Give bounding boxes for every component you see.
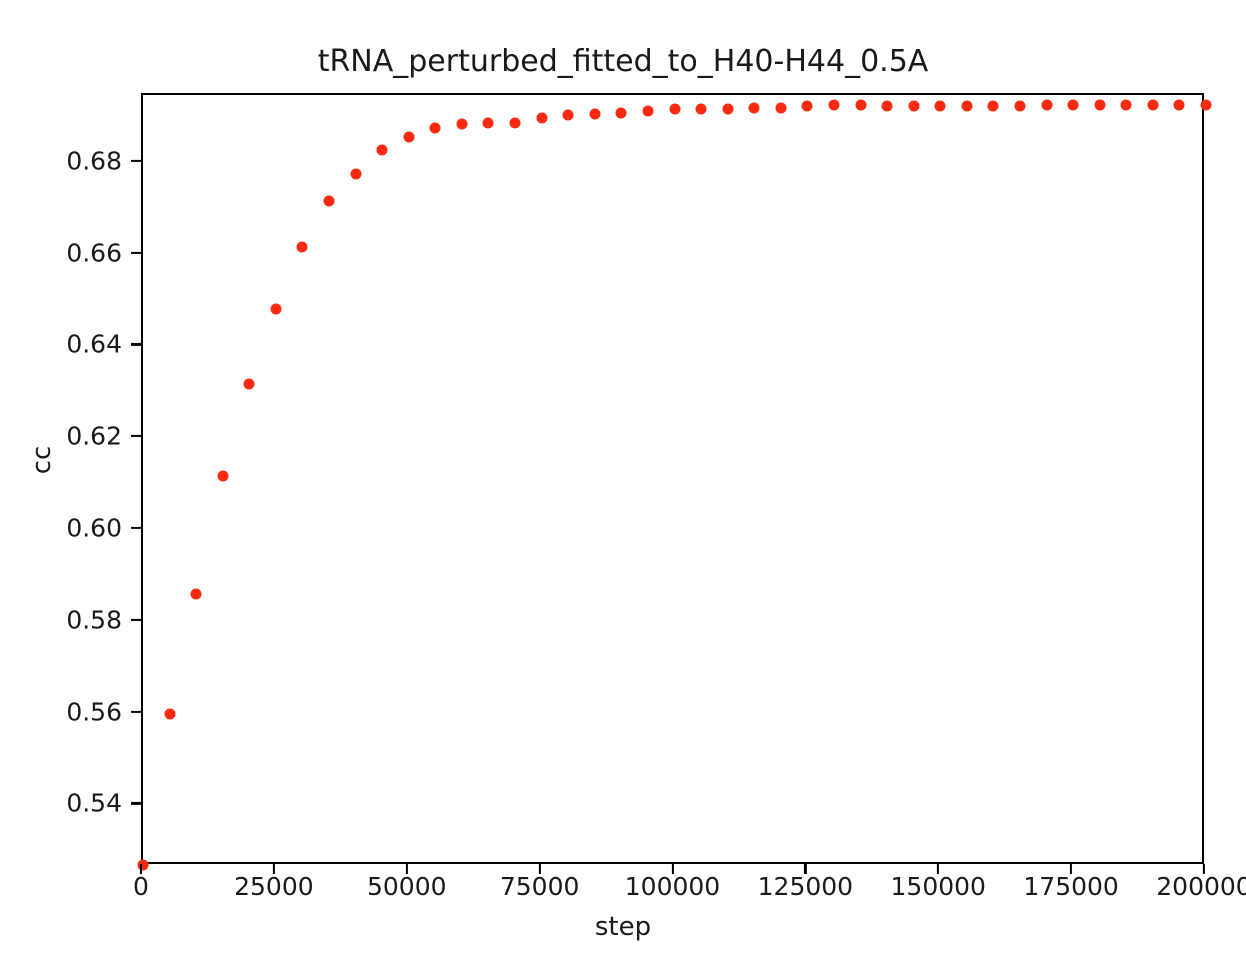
y-tick-label: 0.64 xyxy=(2,330,122,359)
data-point xyxy=(430,123,441,134)
data-point xyxy=(828,100,839,111)
data-point xyxy=(536,112,547,123)
figure-canvas: tRNA_perturbed_fitted_to_H40-H44_0.5A st… xyxy=(0,0,1246,965)
data-point xyxy=(696,103,707,114)
y-tick-label: 0.62 xyxy=(2,422,122,451)
data-point xyxy=(642,105,653,116)
y-tick-label: 0.68 xyxy=(2,146,122,175)
y-tick-mark xyxy=(131,343,141,345)
y-tick-mark xyxy=(131,711,141,713)
data-point xyxy=(217,470,228,481)
y-tick-label: 0.66 xyxy=(2,238,122,267)
data-point xyxy=(403,132,414,143)
data-point xyxy=(802,101,813,112)
data-point xyxy=(1147,100,1158,111)
y-axis-label: cc xyxy=(27,400,57,520)
data-point xyxy=(510,117,521,128)
data-point xyxy=(1068,100,1079,111)
data-point xyxy=(1174,100,1185,111)
x-tick-mark xyxy=(539,864,541,874)
data-point xyxy=(855,100,866,111)
data-point xyxy=(377,145,388,156)
data-point xyxy=(749,103,760,114)
x-tick-mark xyxy=(140,864,142,874)
page-title: tRNA_perturbed_fitted_to_H40-H44_0.5A xyxy=(0,44,1246,79)
y-tick-label: 0.60 xyxy=(2,514,122,543)
y-tick-mark xyxy=(131,527,141,529)
y-tick-label: 0.54 xyxy=(2,789,122,818)
data-point xyxy=(164,708,175,719)
y-tick-mark xyxy=(131,435,141,437)
data-point xyxy=(722,103,733,114)
data-point xyxy=(589,108,600,119)
x-tick-label: 200000 xyxy=(1104,872,1246,901)
x-axis-label: step xyxy=(0,912,1246,942)
data-point xyxy=(775,103,786,114)
y-tick-mark xyxy=(131,160,141,162)
data-point xyxy=(191,589,202,600)
data-point xyxy=(270,303,281,314)
data-point xyxy=(1014,100,1025,111)
data-point xyxy=(483,117,494,128)
data-point xyxy=(1094,100,1105,111)
x-tick-mark xyxy=(804,864,806,874)
data-point xyxy=(456,119,467,130)
x-tick-mark xyxy=(406,864,408,874)
data-point xyxy=(616,108,627,119)
data-point xyxy=(908,100,919,111)
x-tick-mark xyxy=(1070,864,1072,874)
y-tick-label: 0.58 xyxy=(2,605,122,634)
data-point xyxy=(961,101,972,112)
data-point xyxy=(297,241,308,252)
y-tick-mark xyxy=(131,252,141,254)
x-tick-mark xyxy=(937,864,939,874)
data-point xyxy=(244,379,255,390)
y-tick-mark xyxy=(131,802,141,804)
data-point xyxy=(350,169,361,180)
data-point xyxy=(1121,100,1132,111)
data-point xyxy=(324,195,335,206)
data-point xyxy=(563,110,574,121)
data-point xyxy=(669,104,680,115)
data-point xyxy=(1041,100,1052,111)
data-point xyxy=(935,100,946,111)
y-tick-label: 0.56 xyxy=(2,697,122,726)
scatter-series xyxy=(143,95,1202,862)
x-tick-mark xyxy=(1203,864,1205,874)
data-point xyxy=(1201,100,1212,111)
data-point xyxy=(882,100,893,111)
data-point xyxy=(988,101,999,112)
x-tick-mark xyxy=(671,864,673,874)
y-tick-mark xyxy=(131,619,141,621)
plot-area xyxy=(141,93,1204,864)
x-tick-mark xyxy=(273,864,275,874)
